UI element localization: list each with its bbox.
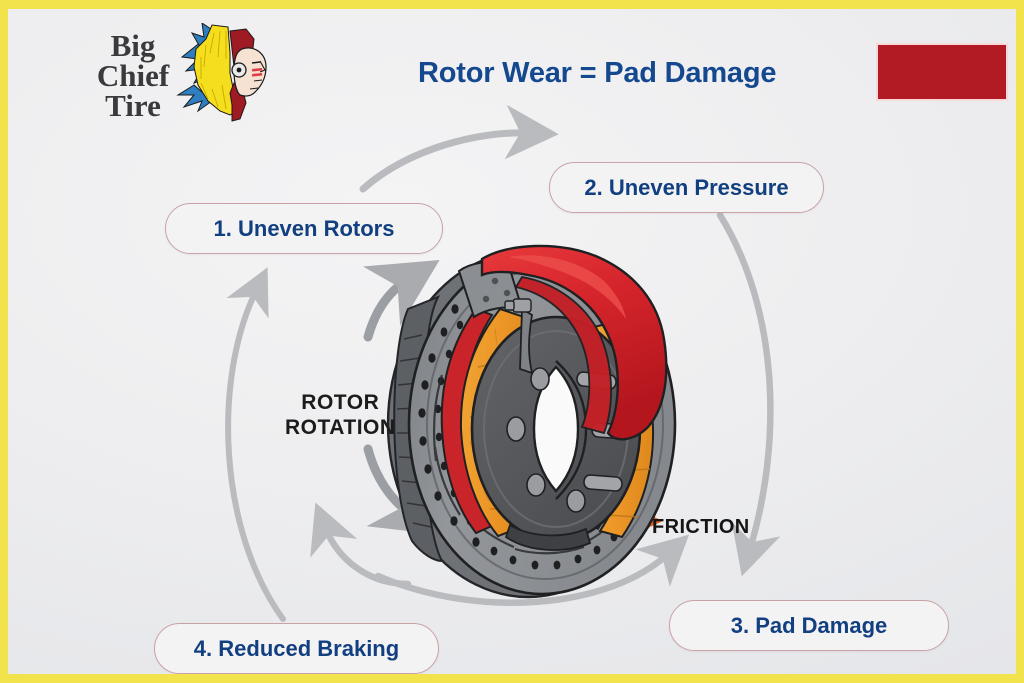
step-pill-2[interactable]: 2. Uneven Pressure [549,162,824,213]
infographic-frame: Big Chief Tire [0,0,1024,683]
step-pill-3-label: 3. Pad Damage [731,613,888,639]
rotor-rotation-label: ROTOR ROTATION [285,390,396,440]
step-pill-1-label: 1. Uneven Rotors [214,216,395,242]
rotor-rotation-line-2: ROTATION [285,415,396,440]
infographic-canvas: Big Chief Tire [8,9,1016,674]
step-pill-2-label: 2. Uneven Pressure [584,175,788,201]
step-pill-3[interactable]: 3. Pad Damage [669,600,949,651]
friction-label: FRICTION [652,516,750,539]
brake-assembly-illustration [8,9,1016,674]
rotor-rotation-line-1: ROTOR [285,390,396,415]
step-pill-4-label: 4. Reduced Braking [194,636,399,662]
step-pill-1[interactable]: 1. Uneven Rotors [165,203,443,254]
step-pill-4[interactable]: 4. Reduced Braking [154,623,439,674]
